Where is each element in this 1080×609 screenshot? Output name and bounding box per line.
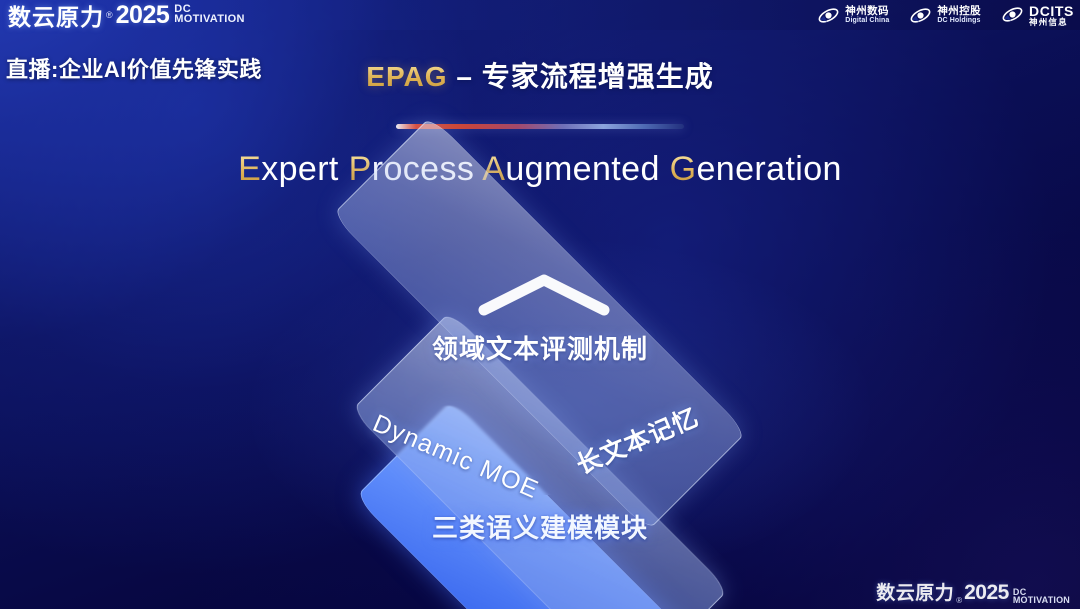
layer-label-top: 领域文本评测机制 bbox=[0, 329, 1080, 366]
slide-canvas: 数云原力®2025 DC MOTIVATION 直播:企业AI价值先锋实践 神州… bbox=[0, 0, 1080, 609]
title-acronym: EPAG bbox=[366, 61, 447, 92]
subtitle-word-generation: eneration bbox=[696, 150, 841, 188]
watermark-dc-motivation: DC MOTIVATION bbox=[1013, 588, 1070, 604]
watermark-registered-mark: ® bbox=[956, 596, 962, 605]
subtitle-word-expert: xpert bbox=[261, 150, 339, 188]
partner-logo-text: 神州控股 DC Holdings bbox=[937, 6, 981, 24]
brand-name-cn: 数云原力 bbox=[8, 0, 104, 32]
brand-logo: 数云原力®2025 DC MOTIVATION bbox=[8, 0, 245, 30]
title-chinese: – 专家流程增强生成 bbox=[448, 61, 714, 92]
partner-name-en: Digital China bbox=[845, 17, 889, 24]
layer-label-dynamic-moe: Dynamic MOE bbox=[368, 409, 543, 505]
swirl-logo-icon bbox=[1001, 5, 1024, 24]
partner-logo-text: 神州数码 Digital China bbox=[845, 6, 889, 24]
swirl-logo-icon bbox=[817, 6, 840, 25]
title-divider bbox=[396, 124, 684, 129]
watermark-dc-line2: MOTIVATION bbox=[1013, 596, 1070, 604]
watermark-name-cn: 数云原力 bbox=[876, 578, 954, 605]
layer-label-long-text-memory: 长文本记忆 bbox=[570, 398, 704, 482]
subtitle-initial-e: E bbox=[238, 150, 261, 188]
partner-logo-dcits: DCITS 神州信息 bbox=[1001, 4, 1074, 27]
partner-name-cn: 神州数码 bbox=[845, 6, 889, 17]
layer-label-bottom: 三类语义建模模块 bbox=[0, 508, 1080, 545]
chevron-up-icon bbox=[478, 272, 610, 316]
partner-logos: 神州数码 Digital China 神州控股 DC Holdings bbox=[817, 2, 1074, 28]
partner-name-cn: 神州信息 bbox=[1029, 18, 1074, 27]
subtitle-initial-p: P bbox=[349, 150, 372, 188]
subtitle-word-augmented: ugmented bbox=[505, 150, 659, 188]
watermark-year: 2025 bbox=[964, 581, 1009, 605]
footer-watermark: 数云原力®2025 DC MOTIVATION bbox=[876, 578, 1070, 605]
partner-logo-digital-china: 神州数码 Digital China bbox=[817, 6, 889, 25]
swirl-logo-icon bbox=[909, 6, 932, 25]
page-title: EPAG – 专家流程增强生成 bbox=[0, 55, 1080, 95]
partner-name-en: DC Holdings bbox=[937, 17, 981, 24]
brand-dc-motivation: DC MOTIVATION bbox=[174, 4, 244, 24]
partner-name-cn: 神州控股 bbox=[937, 6, 981, 17]
brand-registered-mark: ® bbox=[106, 10, 113, 20]
brand-dc-line2: MOTIVATION bbox=[174, 14, 244, 24]
partner-name-en: DCITS bbox=[1029, 4, 1074, 18]
page-subtitle: Expert Process Augmented Generation bbox=[0, 150, 1080, 189]
subtitle-word-process: rocess bbox=[372, 150, 475, 188]
subtitle-initial-a: A bbox=[482, 150, 505, 188]
partner-logo-text: DCITS 神州信息 bbox=[1029, 4, 1074, 27]
brand-year: 2025 bbox=[116, 1, 170, 30]
partner-logo-dc-holdings: 神州控股 DC Holdings bbox=[909, 6, 981, 25]
subtitle-initial-g: G bbox=[670, 150, 697, 188]
